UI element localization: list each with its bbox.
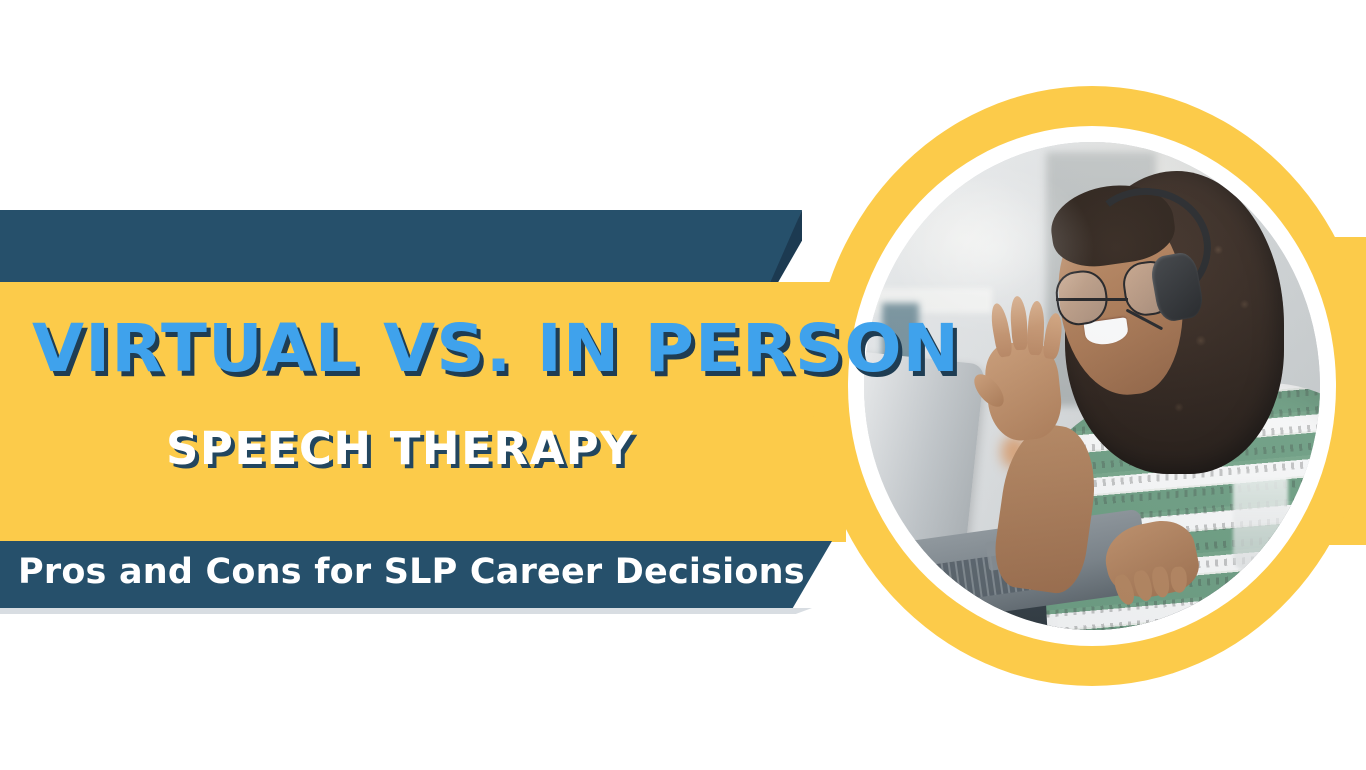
subtitle-text: Pros and Cons for SLP Career Decisions bbox=[18, 555, 805, 590]
photo-drinking-glass bbox=[1233, 474, 1288, 572]
photo-resting-finger-3 bbox=[1150, 565, 1171, 598]
headline-line-1: VIRTUAL VS. IN PERSON bbox=[32, 316, 828, 382]
subtitle-bar-underline bbox=[0, 608, 812, 614]
headline-line-2: SPEECH THERAPY bbox=[166, 426, 634, 471]
banner-canvas: VIRTUAL VS. IN PERSON SPEECH THERAPY Pro… bbox=[0, 0, 1366, 770]
top-accent-bar bbox=[0, 210, 802, 283]
